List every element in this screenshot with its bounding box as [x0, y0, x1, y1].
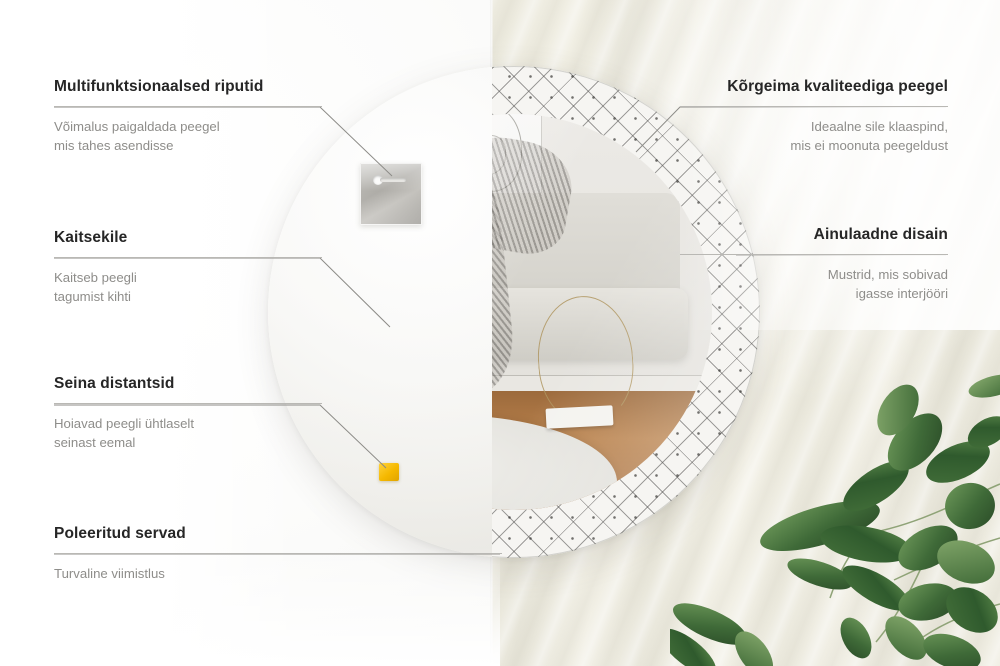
callout-hangers: Multifunktsionaalsed riputid Võimalus pa… — [54, 78, 322, 155]
callout-polished-edges: Poleeritud servad Turvaline viimistlus — [54, 525, 502, 583]
callout-polished-edges-rule — [54, 553, 502, 554]
callout-wall-spacers-title: Seina distantsid — [54, 375, 322, 394]
callout-top-quality-mirror-description: Ideaalne sile klaaspind,mis ei moonuta p… — [680, 117, 948, 155]
foliage-branches — [670, 366, 1000, 666]
callout-wall-spacers-description: Hoiavad peegli ühtlaseltseinast eemal — [54, 414, 322, 452]
callout-unique-design-description: Mustrid, mis sobivadigasse interjööri — [680, 265, 948, 303]
callout-protective-film: Kaitsekile Kaitseb peeglitagumist kihti — [54, 229, 322, 306]
callout-unique-design: Ainulaadne disain Mustrid, mis sobivadig… — [680, 226, 948, 303]
callout-polished-edges-title: Poleeritud servad — [54, 525, 502, 544]
callout-hangers-title: Multifunktsionaalsed riputid — [54, 78, 322, 97]
callout-protective-film-title: Kaitsekile — [54, 229, 322, 248]
callout-wall-spacers-rule — [54, 403, 322, 404]
callout-hangers-description: Võimalus paigaldada peegelmis tahes asen… — [54, 117, 322, 155]
callout-protective-film-rule — [54, 257, 322, 258]
callout-hangers-rule — [54, 106, 322, 107]
callout-top-quality-mirror-rule — [680, 106, 948, 107]
callout-polished-edges-description: Turvaline viimistlus — [54, 564, 502, 583]
callout-wall-spacers: Seina distantsid Hoiavad peegli ühtlasel… — [54, 375, 322, 452]
callout-top-quality-mirror-title: Kõrgeima kvaliteediga peegel — [680, 78, 948, 97]
infographic-canvas: Multifunktsionaalsed riputid Võimalus pa… — [0, 0, 1000, 666]
callout-protective-film-description: Kaitseb peeglitagumist kihti — [54, 268, 322, 306]
callout-top-quality-mirror: Kõrgeima kvaliteediga peegel Ideaalne si… — [680, 78, 948, 155]
callout-unique-design-title: Ainulaadne disain — [680, 226, 948, 245]
callout-unique-design-rule — [680, 254, 948, 255]
